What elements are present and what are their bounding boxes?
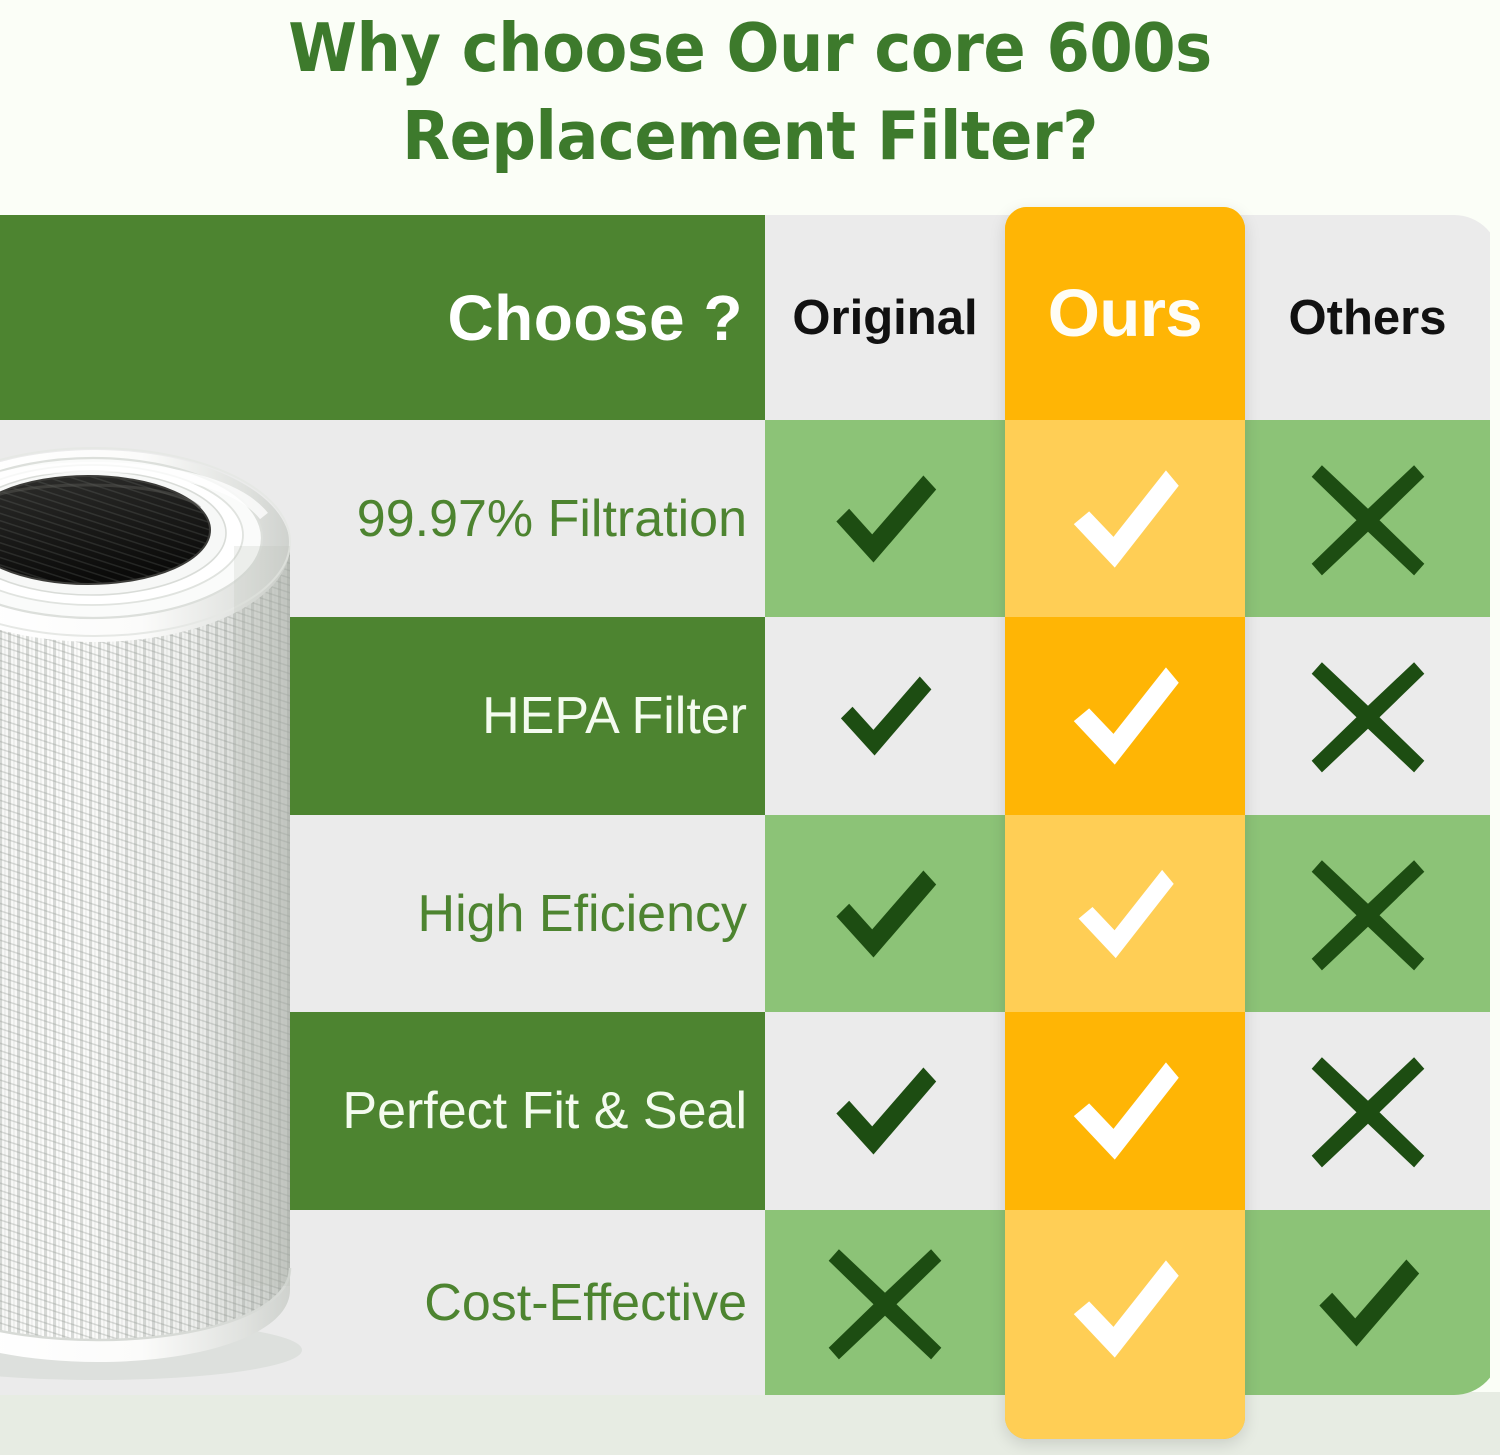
table-header-row: Choose ? Original Others [0, 215, 1500, 420]
check-icon [1061, 1047, 1189, 1175]
row-label: HEPA Filter [482, 690, 765, 742]
check-icon [1304, 1239, 1432, 1367]
table-row: 99.97% Filtration [0, 420, 1500, 617]
cross-icon [1304, 652, 1432, 780]
row-label-cell: Cost-Effective [0, 1210, 765, 1395]
cell-original [765, 1210, 1005, 1395]
row-label-cell: Perfect Fit & Seal [0, 1012, 765, 1210]
row-label-cell: High Eficiency [0, 815, 765, 1012]
bottom-band [0, 1392, 1500, 1455]
cell-others [1245, 1012, 1490, 1210]
row-label: High Eficiency [418, 888, 765, 940]
ours-mark-row-3 [1005, 1012, 1245, 1210]
row-label: 99.97% Filtration [357, 493, 765, 545]
check-icon [821, 1047, 949, 1175]
table-row: Perfect Fit & Seal [0, 1012, 1500, 1210]
cross-icon [1304, 1047, 1432, 1175]
cross-icon [1304, 850, 1432, 978]
page-title-line-1: Why choose Our core 600s [53, 4, 1448, 92]
page-title-line-2: Replacement Filter? [53, 92, 1448, 180]
check-icon [1061, 1245, 1189, 1373]
check-icon [821, 850, 949, 978]
table-row: HEPA Filter [0, 617, 1500, 815]
header-feature-label: Choose ? [447, 281, 765, 355]
row-label-cell: 99.97% Filtration [0, 420, 765, 617]
cell-original [765, 815, 1005, 1012]
cross-icon [821, 1239, 949, 1367]
header-cell-others: Others [1245, 215, 1490, 420]
header-cell-feature: Choose ? [0, 215, 765, 420]
ours-mark-row-0 [1005, 420, 1245, 617]
cross-icon [1304, 455, 1432, 583]
check-icon [1061, 455, 1189, 583]
cell-others [1245, 815, 1490, 1012]
page-title: Why choose Our core 600s Replacement Fil… [53, 4, 1448, 180]
check-icon [827, 658, 943, 774]
row-label-cell: HEPA Filter [0, 617, 765, 815]
ours-mark-row-4 [1005, 1210, 1245, 1407]
header-cell-original: Original [765, 215, 1005, 420]
ours-header-cell: Ours [1005, 207, 1245, 420]
cell-original [765, 420, 1005, 617]
ours-mark-row-1 [1005, 617, 1245, 815]
row-label: Cost-Effective [424, 1277, 765, 1329]
header-ours-label: Ours [1048, 275, 1202, 352]
cell-original [765, 1012, 1005, 1210]
cell-others [1245, 1210, 1490, 1395]
header-original-label: Original [792, 290, 977, 346]
row-label: Perfect Fit & Seal [342, 1085, 765, 1137]
table-row: Cost-Effective [0, 1210, 1500, 1395]
check-icon [821, 455, 949, 583]
cell-others [1245, 617, 1490, 815]
header-others-label: Others [1289, 290, 1447, 346]
comparison-table: Choose ? Original Others 99.97% Filtrati… [0, 215, 1500, 1395]
check-icon [1067, 856, 1183, 972]
cell-original [765, 617, 1005, 815]
table-row: High Eficiency [0, 815, 1500, 1012]
check-icon [1061, 652, 1189, 780]
cell-others [1245, 420, 1490, 617]
ours-mark-row-2 [1005, 815, 1245, 1012]
